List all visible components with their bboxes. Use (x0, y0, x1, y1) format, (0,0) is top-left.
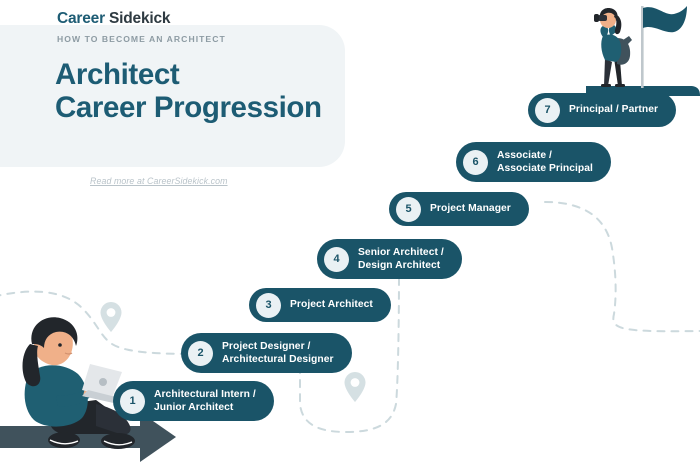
step-item-6[interactable]: 6 Associate / Associate Principal (456, 142, 611, 182)
step-label-1: Architectural Intern / Junior Architect (154, 388, 256, 414)
step-item-4[interactable]: 4 Senior Architect / Design Architect (317, 239, 462, 279)
step-label-5: Project Manager (430, 202, 511, 215)
step-item-3[interactable]: 3 Project Architect (249, 288, 391, 322)
map-pin-icon-middle (345, 372, 366, 402)
step-label-6: Associate / Associate Principal (497, 149, 593, 175)
infographic-canvas: Career Sidekick HOW TO BECOME AN ARCHITE… (0, 0, 700, 466)
step-badge-3: 3 (256, 293, 281, 318)
dashed-segment-right (545, 202, 700, 331)
page-title: Architect Career Progression (55, 58, 322, 125)
step-label-2: Project Designer / Architectural Designe… (222, 340, 334, 366)
step-badge-2: 2 (188, 341, 213, 366)
step-item-7[interactable]: 7 Principal / Partner (528, 93, 676, 127)
page-title-line1: Architect (55, 58, 322, 91)
step-item-5[interactable]: 5 Project Manager (389, 192, 529, 226)
step-badge-7: 7 (535, 98, 560, 123)
step-label-3: Project Architect (290, 298, 373, 311)
step-label-4: Senior Architect / Design Architect (358, 246, 444, 272)
binoculars-icon (594, 14, 607, 22)
brand-logo: Career Sidekick (57, 10, 170, 28)
step-badge-6: 6 (463, 150, 488, 175)
flag-icon (643, 6, 687, 32)
brand-logo-primary: Career (57, 10, 105, 27)
hiker-flag-illustration (586, 0, 700, 96)
brand-logo-secondary: Sidekick (109, 10, 170, 27)
step-label-7: Principal / Partner (569, 103, 658, 116)
page-title-line2: Career Progression (55, 91, 322, 124)
step-badge-1: 1 (120, 389, 145, 414)
step-item-1[interactable]: 1 Architectural Intern / Junior Architec… (113, 381, 274, 421)
step-badge-5: 5 (396, 197, 421, 222)
step-badge-4: 4 (324, 247, 349, 272)
read-more-link[interactable]: Read more at CareerSidekick.com (90, 176, 228, 186)
step-item-2[interactable]: 2 Project Designer / Architectural Desig… (181, 333, 352, 373)
kicker-text: HOW TO BECOME AN ARCHITECT (57, 34, 226, 44)
